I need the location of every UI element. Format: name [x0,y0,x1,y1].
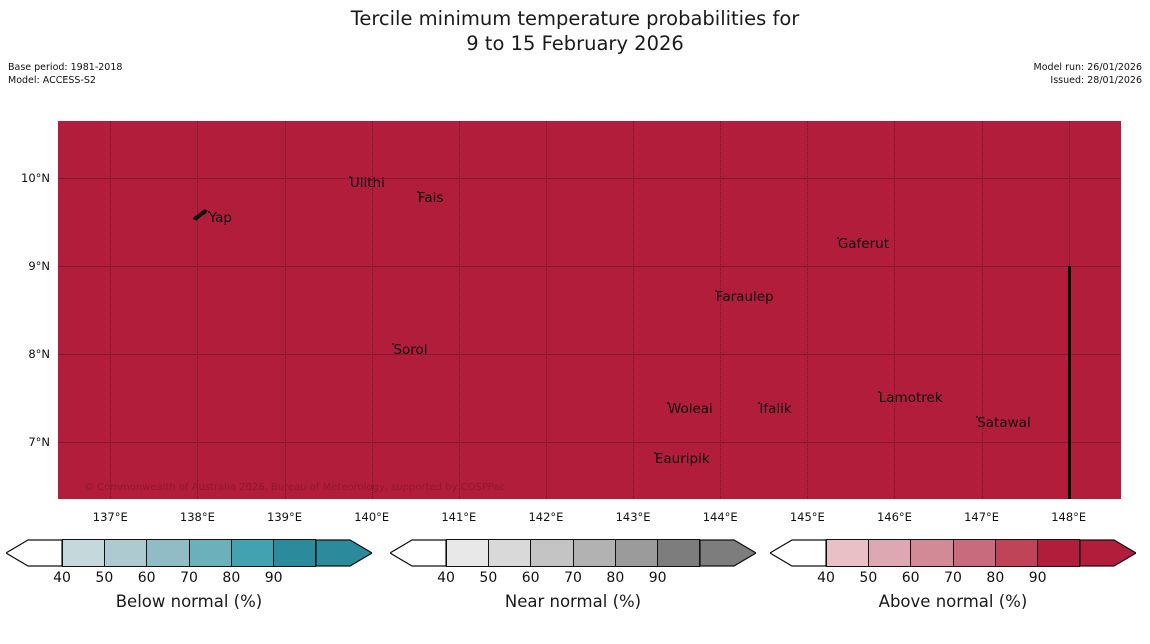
x-axis-tick-label: 140°E [337,510,407,524]
colorbar-tick-60: 60 [511,570,551,586]
colorbar-segment-70 [190,540,232,566]
colorbar-tick-40: 40 [806,570,846,586]
colorbar-tick-50: 50 [84,570,124,586]
place-label-sorol: Sorol [393,342,427,358]
colorbar-tick-50: 50 [468,570,508,586]
colorbar-right-arrow-icon [316,539,372,567]
colorbar-tick-40: 40 [42,570,82,586]
place-label-woleai: Woleai [668,401,713,417]
colorbar-segment-50 [489,540,531,566]
colorbar-tick-80: 80 [975,570,1015,586]
colorbar-segment-50 [105,540,147,566]
colorbar-segment-60 [531,540,573,566]
place-label-faraulep: Faraulep [716,289,774,305]
colorbar-tick-70: 70 [933,570,973,586]
gridline-horizontal [58,354,1121,355]
title-line-2: 9 to 15 February 2026 [0,31,1150,56]
colorbar-segment-70 [954,540,996,566]
colorbar-below-normal[interactable]: 405060708090Below normal (%) [4,536,374,636]
colorbar-tick-60: 60 [127,570,167,586]
x-axis-tick-label: 148°E [1034,510,1104,524]
y-axis-tick-label: 10°N [0,171,50,185]
gridline-vertical [633,121,635,499]
base-period-text: Base period: 1981-2018 [8,62,122,75]
place-label-yap: Yap [209,210,232,226]
x-axis-tick-label: 142°E [511,510,581,524]
place-label-eauripik: Eauripik [655,451,710,467]
colorbar-tick-70: 70 [553,570,593,586]
metadata-left: Base period: 1981-2018 Model: ACCESS-S2 [8,62,122,87]
model-text: Model: ACCESS-S2 [8,75,122,88]
gridline-horizontal [58,442,1121,443]
colorbar-segment-40 [63,540,105,566]
colorbar-segment-60 [147,540,189,566]
colorbar-left-arrow-icon [390,539,446,567]
colorbar-tick-50: 50 [848,570,888,586]
colorbar-scale: 405060708090 [768,536,1138,570]
colorbar-segment-70 [574,540,616,566]
y-axis-tick-label: 9°N [0,259,50,273]
title-line-1: Tercile minimum temperature probabilitie… [0,6,1150,31]
gridline-vertical [197,121,199,499]
colorbar-tick-labels: 405060708090 [826,570,1080,590]
page-title: Tercile minimum temperature probabilitie… [0,6,1150,56]
gridline-vertical [459,121,461,499]
colorbar-tick-80: 80 [595,570,635,586]
colorbar-title: Near normal (%) [388,592,758,611]
x-axis-tick-label: 141°E [424,510,494,524]
x-axis-tick-label: 137°E [75,510,145,524]
colorbar-tick-80: 80 [211,570,251,586]
place-label-ulithi: Ulithi [350,175,385,191]
place-label-lamotrek: Lamotrek [879,390,943,406]
colorbar-segments [446,539,700,567]
metadata-right: Model run: 26/01/2026 Issued: 28/01/2026 [1034,62,1142,87]
colorbar-segment-40 [827,540,869,566]
colorbar-segment-40 [447,540,489,566]
colorbar-segment-80 [996,540,1038,566]
gridline-horizontal [58,266,1121,267]
colorbar-tick-90: 90 [1018,570,1058,586]
colorbar-tick-60: 60 [891,570,931,586]
colorbar-scale: 405060708090 [388,536,758,570]
gridline-vertical [807,121,809,499]
model-run-text: Model run: 26/01/2026 [1034,62,1142,75]
gridline-vertical [546,121,548,499]
x-axis-tick-label: 139°E [250,510,320,524]
colorbar-right-arrow-icon [1080,539,1136,567]
gridline-vertical [982,121,984,499]
colorbar-tick-70: 70 [169,570,209,586]
colorbar-left-arrow-icon [770,539,826,567]
colorbar-tick-labels: 405060708090 [62,570,316,590]
gridline-vertical [894,121,896,499]
colorbar-segment-60 [911,540,953,566]
gridline-horizontal [58,178,1121,179]
colorbar-segments [826,539,1080,567]
x-axis-tick-label: 138°E [162,510,232,524]
colorbar-title: Above normal (%) [768,592,1138,611]
y-axis-tick-label: 8°N [0,347,50,361]
probability-map[interactable]: UlithiFaisYapGaferutFaraulepSorolLamotre… [58,121,1121,499]
colorbar-tick-40: 40 [426,570,466,586]
colorbar-tick-90: 90 [254,570,294,586]
gridline-vertical [285,121,287,499]
x-axis-tick-label: 145°E [772,510,842,524]
gridline-vertical [720,121,722,499]
y-axis-tick-label: 7°N [0,435,50,449]
colorbar-title: Below normal (%) [4,592,374,611]
colorbar-segment-50 [869,540,911,566]
copyright-text: © Commonwealth of Australia 2026, Bureau… [84,482,505,493]
gridline-vertical [110,121,112,499]
colorbar-tick-labels: 405060708090 [446,570,700,590]
x-axis-tick-label: 144°E [685,510,755,524]
colorbar-left-arrow-icon [6,539,62,567]
colorbar-segment-90 [658,540,699,566]
place-label-ifalik: Ifalik [759,401,791,417]
colorbar-tick-90: 90 [638,570,678,586]
colorbar-right-arrow-icon [700,539,756,567]
colorbar-segment-80 [232,540,274,566]
x-axis-tick-label: 147°E [947,510,1017,524]
coastline-segment [1068,266,1071,499]
place-label-gaferut: Gaferut [838,236,889,252]
x-axis-tick-label: 143°E [598,510,668,524]
colorbar-segment-80 [616,540,658,566]
colorbar-scale: 405060708090 [4,536,374,570]
colorbar-segments [62,539,316,567]
colorbar-segment-90 [274,540,315,566]
colorbar-segment-90 [1038,540,1079,566]
place-label-satawal: Satawal [977,415,1030,431]
place-label-fais: Fais [418,190,444,206]
x-axis-tick-label: 146°E [859,510,929,524]
colorbar-above-normal[interactable]: 405060708090Above normal (%) [768,536,1138,636]
island-shape-yap [192,209,208,222]
issued-text: Issued: 28/01/2026 [1034,75,1142,88]
colorbar-near-normal[interactable]: 405060708090Near normal (%) [388,536,758,636]
